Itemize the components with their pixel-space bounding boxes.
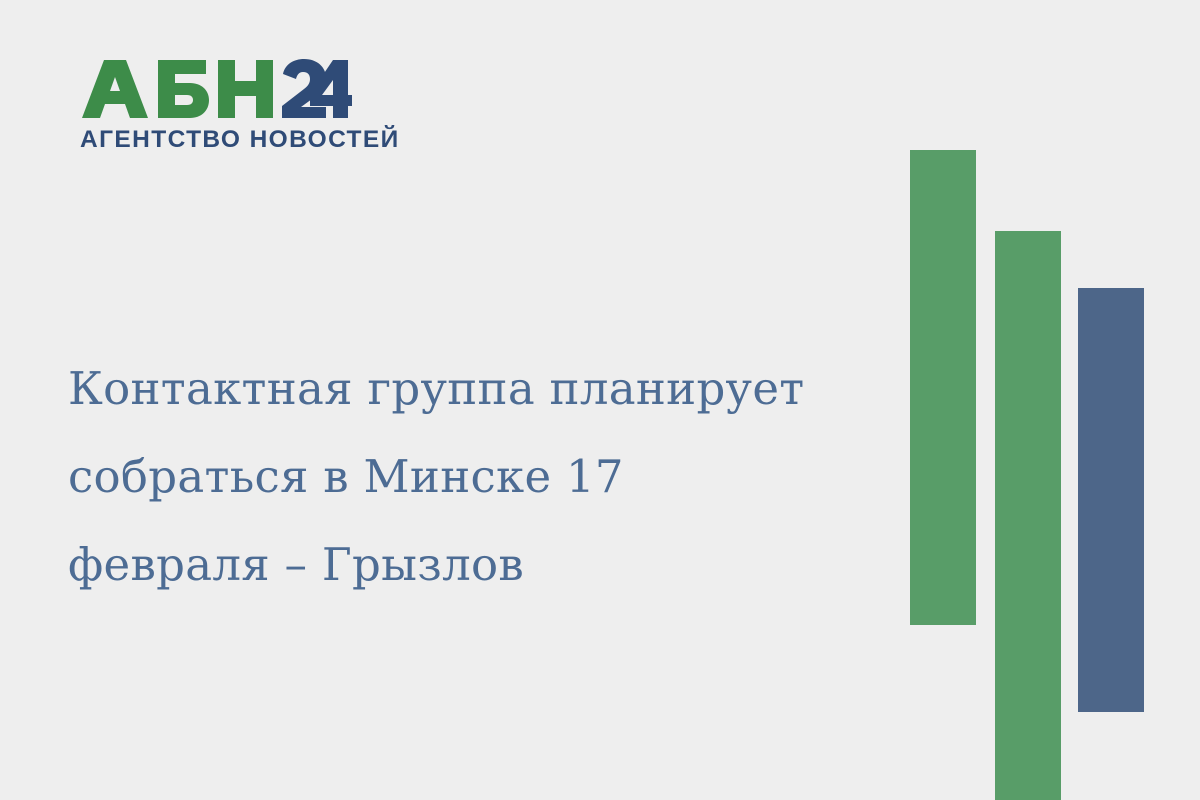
abn24-logo[interactable]: АГЕНТСТВО НОВОСТЕЙ	[80, 58, 380, 163]
bar-graphic	[890, 0, 1200, 800]
logo-tagline: АГЕНТСТВО НОВОСТЕЙ	[80, 126, 380, 154]
headline-line-3: февраля – Грызлов	[68, 521, 868, 609]
decorative-bar-2	[995, 231, 1061, 800]
headline-line-2: собраться в Минске 17	[68, 433, 868, 521]
page-title: Контактная группа планирует собраться в …	[68, 345, 868, 609]
abn24-logo-mark	[80, 58, 380, 120]
decorative-bar-3	[1078, 288, 1144, 712]
news-card: АГЕНТСТВО НОВОСТЕЙ Контактная группа пла…	[0, 0, 1200, 800]
decorative-bar-1	[910, 150, 976, 625]
headline-line-1: Контактная группа планирует	[68, 345, 868, 433]
